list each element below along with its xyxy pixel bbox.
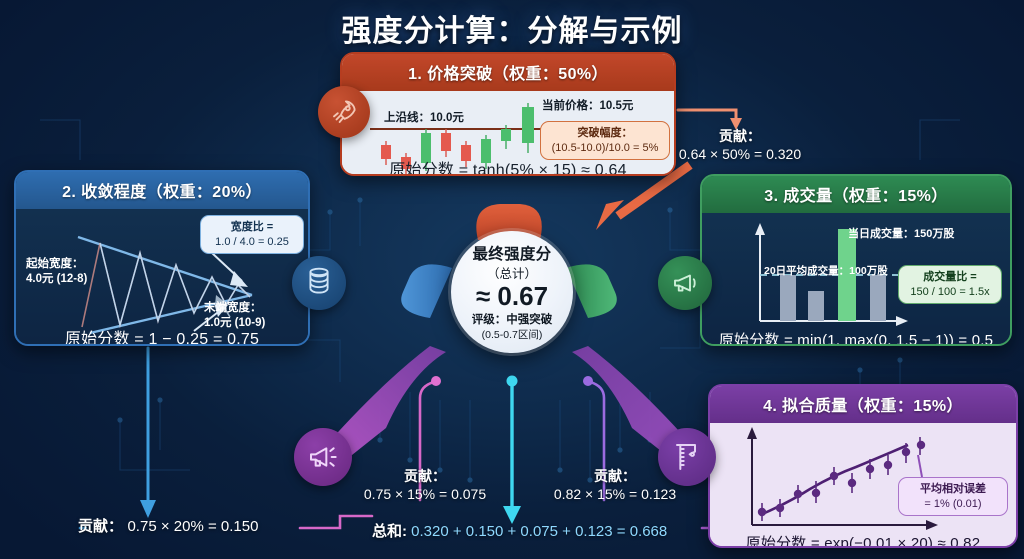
- rocket-icon: [318, 86, 370, 138]
- contribution-value: 0.82 × 15% = 0.123: [520, 486, 710, 502]
- card-fit-quality-body: 平均相对误差 = 1% (0.01) 原始分数 = exp(−0.01 × 20…: [710, 423, 1016, 548]
- contribution-price-breakout: 贡献： 0.64 × 50% = 0.320: [640, 126, 840, 162]
- volume-ratio-line1: 成交量比 =: [906, 270, 994, 285]
- card-price-breakout-formula: 原始分数 = tanh(5% × 15) ≈ 0.64: [342, 156, 674, 176]
- card-fit-quality-header: 4. 拟合质量（权重：15%）: [710, 386, 1016, 423]
- contribution-volume: 贡献： 0.75 × 15% = 0.075: [330, 466, 520, 502]
- hub-title: 最终强度分: [472, 242, 551, 264]
- width-ratio-line1: 宽度比 =: [208, 220, 296, 235]
- mean-error-bubble: 平均相对误差 = 1% (0.01): [898, 477, 1008, 516]
- start-width-line1: 起始宽度：: [26, 257, 87, 272]
- contribution-convergence: 贡献： 0.75 × 20% = 0.150: [78, 515, 378, 536]
- card-volume[interactable]: 3. 成交量（权重：15%） 当日成交量：150万股 20日平均成交量：100万…: [700, 174, 1012, 346]
- card-convergence-header: 2. 收敛程度（权重：20%）: [16, 172, 308, 209]
- card-price-breakout-body: 上沿线：10.0元 当前价格：10.5元 突破幅度： (10.5-10.0)/1…: [342, 91, 674, 176]
- spring-coil-icon: [292, 256, 346, 310]
- volume-ratio-bubble: 成交量比 = 150 / 100 = 1.5x: [898, 265, 1002, 304]
- contribution-fit-quality: 贡献： 0.82 × 15% = 0.123: [520, 466, 710, 502]
- end-width-line1: 末端宽度：: [204, 301, 265, 316]
- card-fit-quality-formula: 原始分数 = exp(−0.01 × 20) ≈ 0.82: [710, 532, 1016, 548]
- final-score-hub: 最终强度分 （总计） ≈ 0.67 评级：中强突破 (0.5-0.7区间): [420, 228, 604, 376]
- contribution-label: 贡献：: [78, 518, 123, 535]
- avg-volume-label: 20日平均成交量：100万股: [764, 263, 888, 278]
- total-sum: 总和: 0.320 + 0.150 + 0.075 + 0.123 = 0.66…: [372, 520, 702, 541]
- mean-error-line2: = 1% (0.01): [906, 497, 1000, 512]
- total-value: 0.320 + 0.150 + 0.075 + 0.123 = 0.668: [411, 523, 667, 540]
- hub-subtitle: （总计）: [487, 263, 537, 282]
- contribution-value: 0.75 × 20% = 0.150: [127, 518, 258, 535]
- contribution-label: 贡献：: [640, 126, 840, 146]
- contribution-value: 0.64 × 50% = 0.320: [640, 146, 840, 162]
- upper-line-label: 上沿线：10.0元: [384, 109, 464, 125]
- hub-range: (0.5-0.7区间): [482, 327, 543, 342]
- start-width-line2: 4.0元 (12-8): [26, 272, 87, 287]
- volume-ratio-line2: 150 / 100 = 1.5x: [906, 285, 994, 300]
- card-price-breakout-header: 1. 价格突破（权重：50%）: [342, 54, 674, 91]
- start-width-label: 起始宽度： 4.0元 (12-8): [26, 257, 87, 286]
- megaphone-icon: [658, 256, 712, 310]
- contribution-label: 贡献：: [330, 466, 520, 486]
- card-convergence-body: 起始宽度： 4.0元 (12-8) 末端宽度： 1.0元 (10-9) 宽度比 …: [16, 209, 308, 346]
- card-price-breakout[interactable]: 1. 价格突破（权重：50%）: [340, 52, 676, 176]
- total-label: 总和:: [372, 523, 407, 540]
- width-ratio-line2: 1.0 / 4.0 = 0.25: [208, 235, 296, 250]
- hub-score: ≈ 0.67: [476, 283, 548, 310]
- infographic-canvas: 强度分计算：分解与示例 1. 价格突破（权重：50%）: [0, 0, 1024, 559]
- card-volume-header: 3. 成交量（权重：15%）: [702, 176, 1010, 213]
- contribution-label: 贡献：: [520, 466, 710, 486]
- mean-error-line1: 平均相对误差: [906, 482, 1000, 497]
- card-volume-body: 当日成交量：150万股 20日平均成交量：100万股 成交量比 = 150 / …: [702, 213, 1010, 346]
- current-price-label: 当前价格：10.5元: [542, 97, 633, 113]
- card-convergence[interactable]: 2. 收敛程度（权重：20%） 起始宽度： 4: [14, 170, 310, 346]
- final-score-circle: 最终强度分 （总计） ≈ 0.67 评级：中强突破 (0.5-0.7区间): [451, 231, 573, 353]
- card-convergence-formula: 原始分数 = 1 − 0.25 = 0.75: [16, 325, 308, 346]
- contribution-value: 0.75 × 15% = 0.075: [330, 486, 520, 502]
- width-ratio-bubble: 宽度比 = 1.0 / 4.0 = 0.25: [200, 215, 304, 254]
- card-volume-formula: 原始分数 = min(1, max(0, 1.5 − 1)) = 0.5: [702, 329, 1010, 346]
- card-fit-quality[interactable]: 4. 拟合质量（权重：15%）: [708, 384, 1018, 548]
- hub-rating: 评级：中强突破: [472, 311, 553, 327]
- page-title: 强度分计算：分解与示例: [0, 6, 1024, 50]
- today-volume-label: 当日成交量：150万股: [848, 225, 954, 241]
